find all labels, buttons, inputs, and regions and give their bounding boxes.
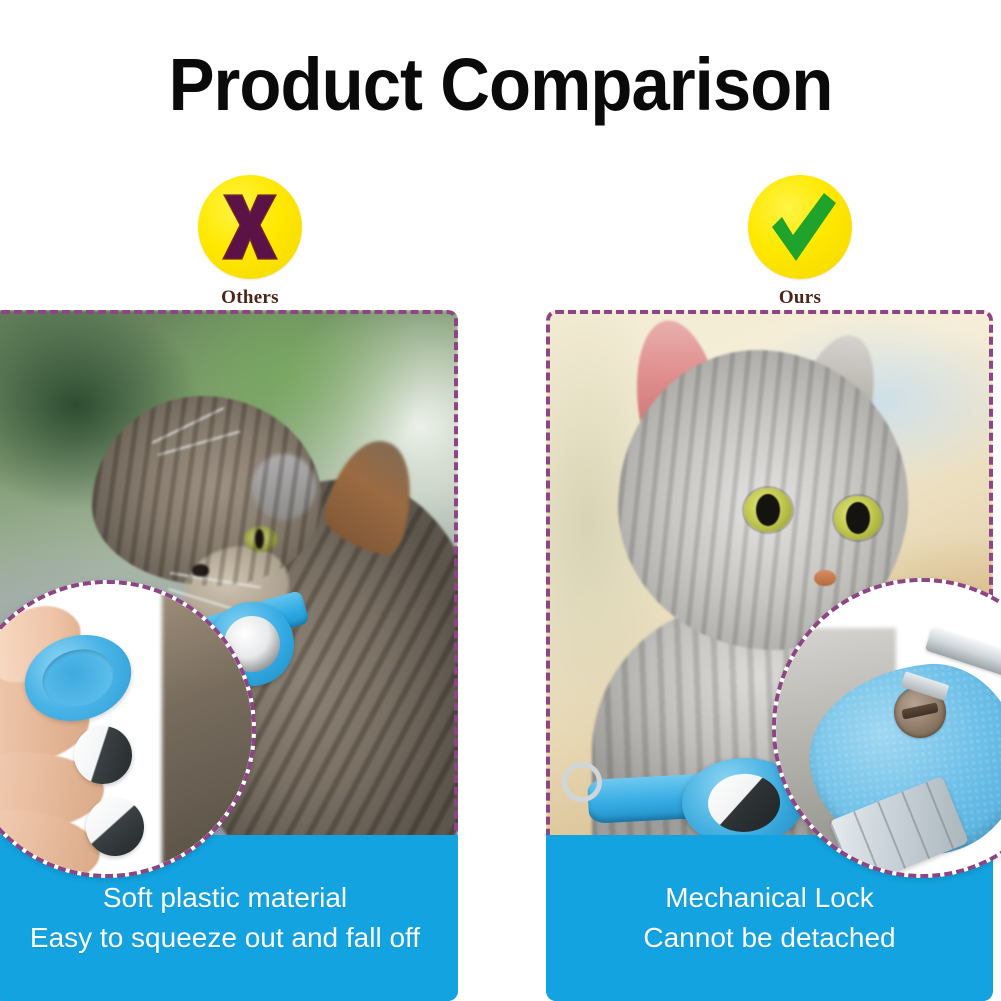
ours-caption-text: Mechanical Lock Cannot be detached xyxy=(546,878,993,958)
ours-caption-line-1: Mechanical Lock xyxy=(554,878,985,918)
others-caption-line-2: Easy to squeeze out and fall off xyxy=(0,918,450,958)
badge-ours-label: Ours xyxy=(720,287,880,309)
ours-caption-line-2: Cannot be detached xyxy=(554,918,985,958)
cat-nose xyxy=(814,570,836,586)
badge-others-circle xyxy=(198,175,302,279)
x-mark-icon xyxy=(198,175,302,279)
cat-whisker xyxy=(152,407,225,444)
cat-whisker xyxy=(158,430,241,456)
cat-eye-right xyxy=(834,496,882,540)
cat-eye xyxy=(244,526,278,552)
cat-far-ear xyxy=(252,454,316,520)
cat-eye-left xyxy=(744,488,792,532)
cat-nose xyxy=(192,564,209,577)
others-detail-inset-image xyxy=(0,584,252,874)
others-detail-inset xyxy=(0,580,256,878)
badge-ours: Ours xyxy=(720,175,880,309)
check-mark-icon xyxy=(748,175,852,279)
badge-others: Others xyxy=(170,175,330,309)
page-title: Product Comparison xyxy=(35,46,966,124)
badge-ours-circle xyxy=(748,175,852,279)
cat-fur-backdrop xyxy=(162,584,252,874)
product-comparison-graphic: Product Comparison Others Ours xyxy=(0,0,1001,1001)
badge-others-label: Others xyxy=(170,287,330,309)
others-caption-text: Soft plastic material Easy to squeeze ou… xyxy=(0,878,458,958)
others-caption-line-1: Soft plastic material xyxy=(0,878,450,918)
